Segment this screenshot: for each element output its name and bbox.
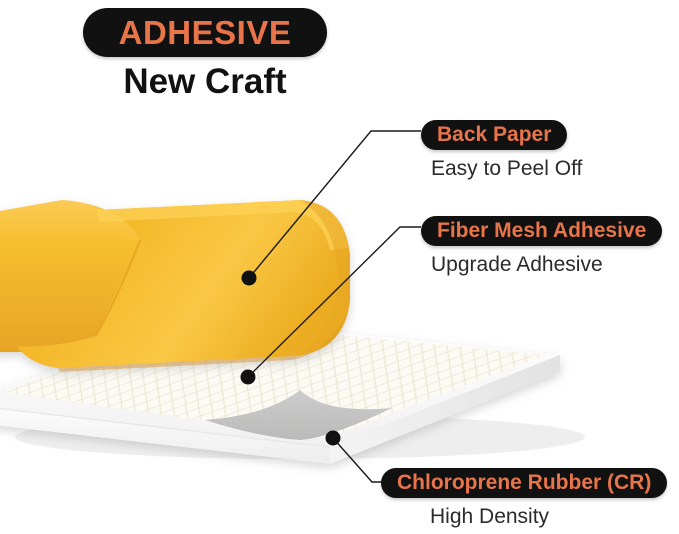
callout-description-fiber-mesh: Upgrade Adhesive [431, 253, 603, 277]
callout-label-back-paper: Back Paper [421, 120, 567, 150]
callout-description-back-paper: Easy to Peel Off [431, 157, 582, 181]
anchor-dot-back-paper [242, 271, 257, 286]
callout-label-fiber-mesh: Fiber Mesh Adhesive [421, 216, 662, 246]
adhesive-infographic: ADHESIVE New Craft Back Paper Easy to Pe… [0, 0, 679, 534]
callout-description-chloroprene: High Density [430, 505, 549, 529]
adhesive-badge: ADHESIVE [83, 8, 327, 57]
anchor-dot-fiber-mesh [241, 370, 256, 385]
anchor-dot-chloroprene [326, 431, 341, 446]
back-paper-roll [0, 200, 350, 372]
page-subtitle: New Craft [83, 62, 327, 102]
callout-label-chloroprene: Chloroprene Rubber (CR) [381, 468, 667, 498]
